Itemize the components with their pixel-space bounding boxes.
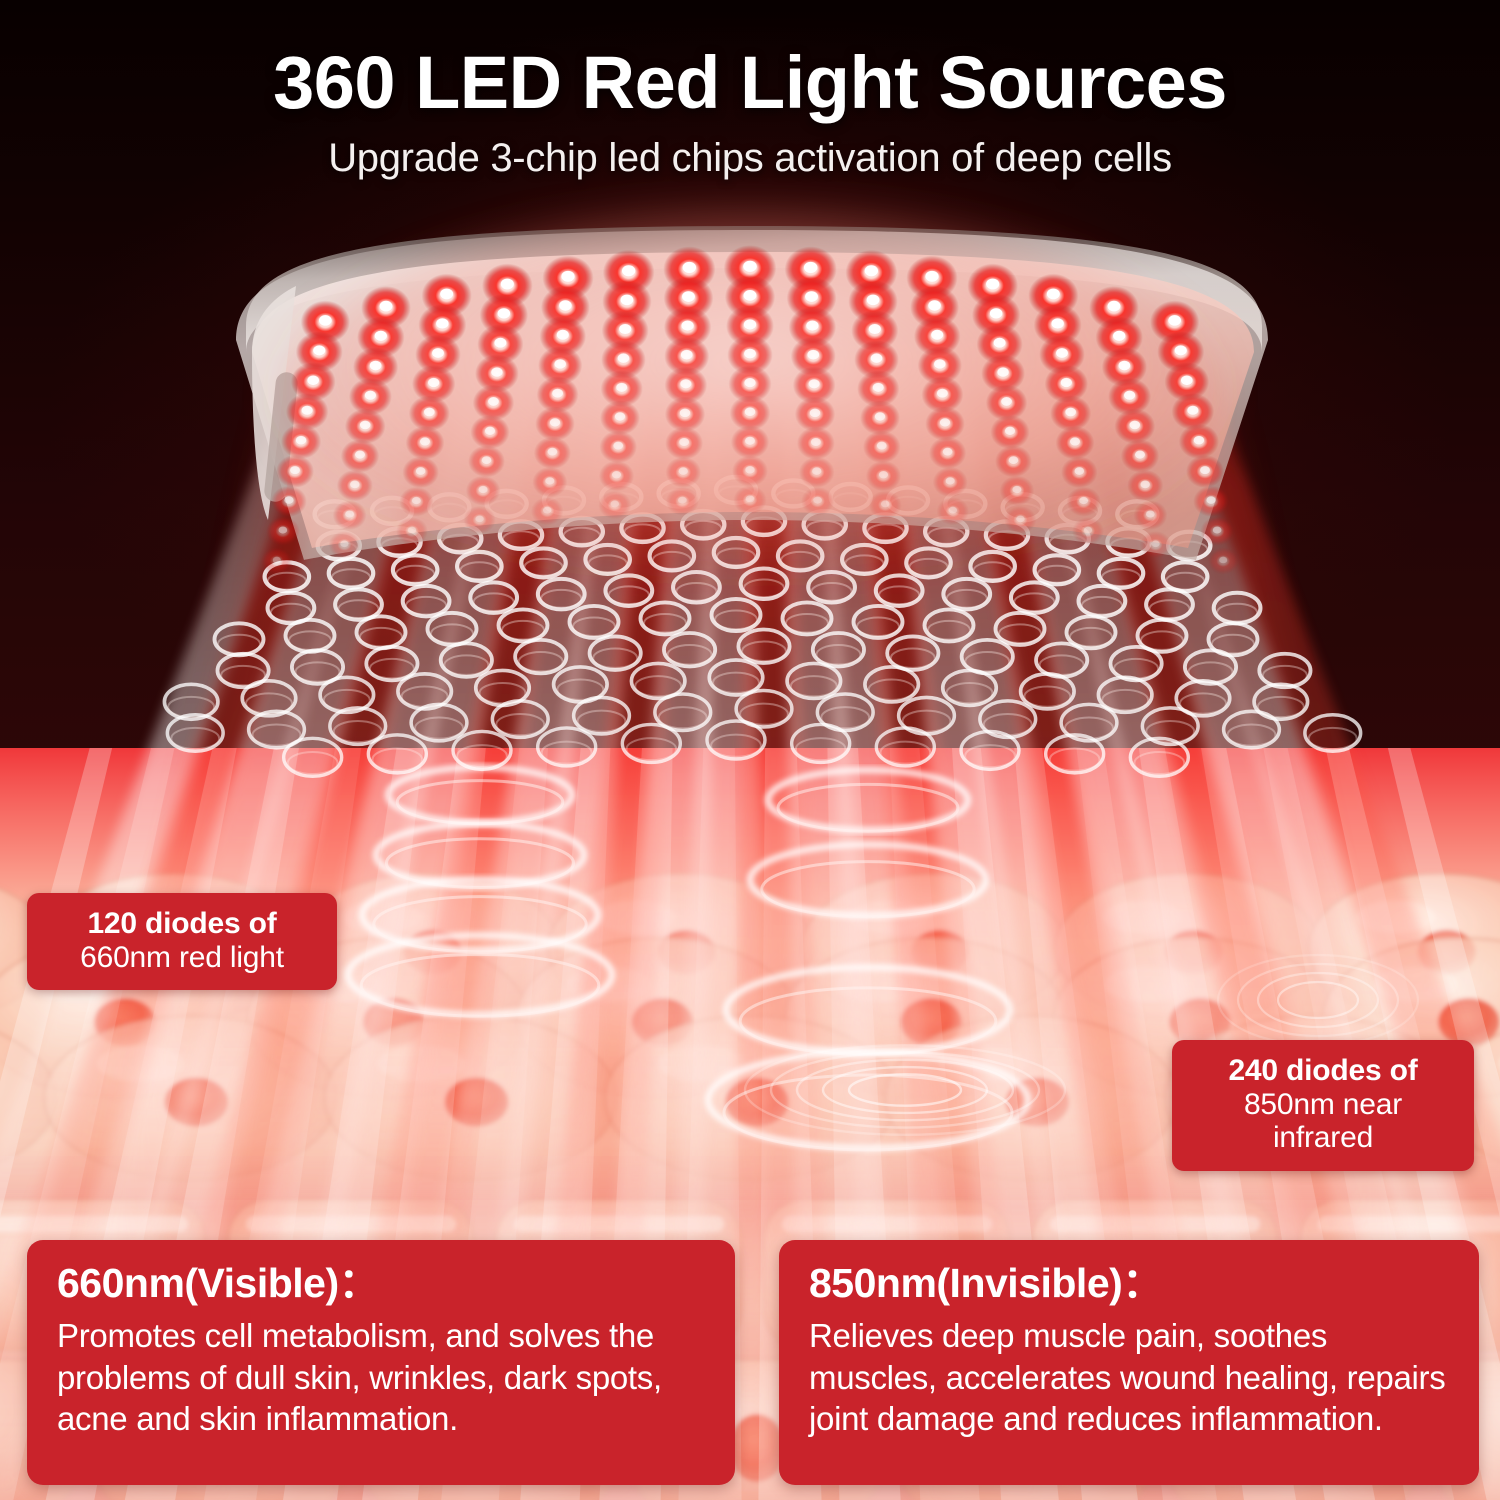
panel-660-heading: 660nm(Visible)：: [57, 1262, 709, 1305]
page-title: 360 LED Red Light Sources: [0, 46, 1500, 120]
callout-660-diodes: 120 diodes of 660nm red light: [27, 893, 337, 990]
callout-850-diodes: 240 diodes of 850nm near infrared: [1172, 1040, 1474, 1171]
header: 360 LED Red Light Sources Upgrade 3-chip…: [0, 0, 1500, 181]
callout-850-line2: 850nm near infrared: [1194, 1088, 1452, 1155]
description-panel-850: 850nm(Invisible)： Relieves deep muscle p…: [779, 1240, 1479, 1485]
panel-850-heading: 850nm(Invisible)：: [809, 1262, 1453, 1305]
infographic-canvas: 360 LED Red Light Sources Upgrade 3-chip…: [0, 0, 1500, 1500]
page-subtitle: Upgrade 3-chip led chips activation of d…: [0, 136, 1500, 181]
description-panel-660: 660nm(Visible)： Promotes cell metabolism…: [27, 1240, 735, 1485]
panel-850-body: Relieves deep muscle pain, soothes muscl…: [809, 1315, 1453, 1440]
callout-660-line2: 660nm red light: [49, 941, 315, 975]
callout-850-line1: 240 diodes of: [1194, 1054, 1452, 1088]
callout-660-line1: 120 diodes of: [49, 907, 315, 941]
panel-660-body: Promotes cell metabolism, and solves the…: [57, 1315, 709, 1440]
